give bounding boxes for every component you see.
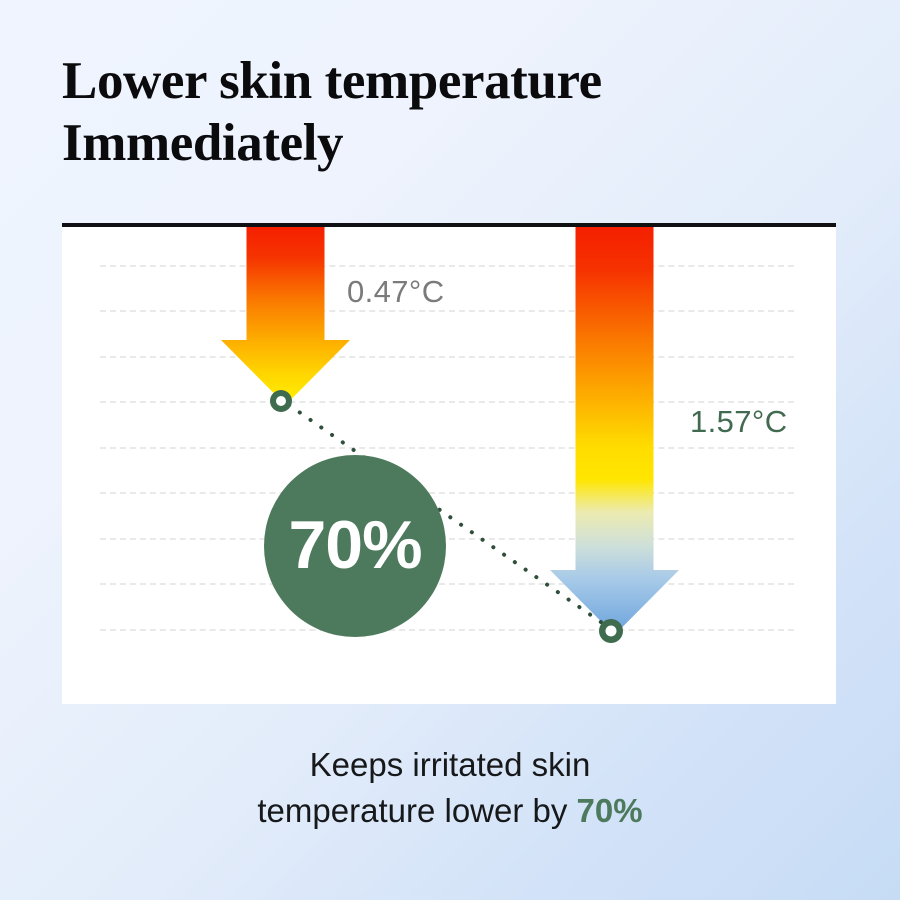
reduction-badge: 70% <box>264 455 446 637</box>
value-label-left: 0.47°C <box>347 274 445 310</box>
gridline <box>100 629 794 631</box>
temperature-arrow-left <box>216 225 356 407</box>
gridline <box>100 447 794 449</box>
caption-line-2: temperature lower by 70% <box>0 788 900 834</box>
caption-highlight: 70% <box>577 792 643 829</box>
caption-line-2-prefix: temperature lower by <box>257 792 576 829</box>
gridline <box>100 492 794 494</box>
gridline <box>100 265 794 267</box>
temperature-arrow-right <box>545 225 685 637</box>
title-line-1: Lower skin temperature <box>62 50 822 112</box>
value-label-right: 1.57°C <box>690 404 788 440</box>
caption: Keeps irritated skin temperature lower b… <box>0 742 900 834</box>
reduction-badge-value: 70% <box>288 511 421 579</box>
gridline <box>100 583 794 585</box>
chart-gridlines <box>62 227 836 704</box>
caption-line-1: Keeps irritated skin <box>0 742 900 788</box>
page-title: Lower skin temperature Immediately <box>62 50 822 174</box>
chart-panel <box>62 223 836 704</box>
gridline <box>100 538 794 540</box>
title-line-2: Immediately <box>62 112 822 174</box>
gridline <box>100 310 794 312</box>
gridline <box>100 356 794 358</box>
gridline <box>100 401 794 403</box>
infographic-root: Lower skin temperature Immediately <box>0 0 900 900</box>
